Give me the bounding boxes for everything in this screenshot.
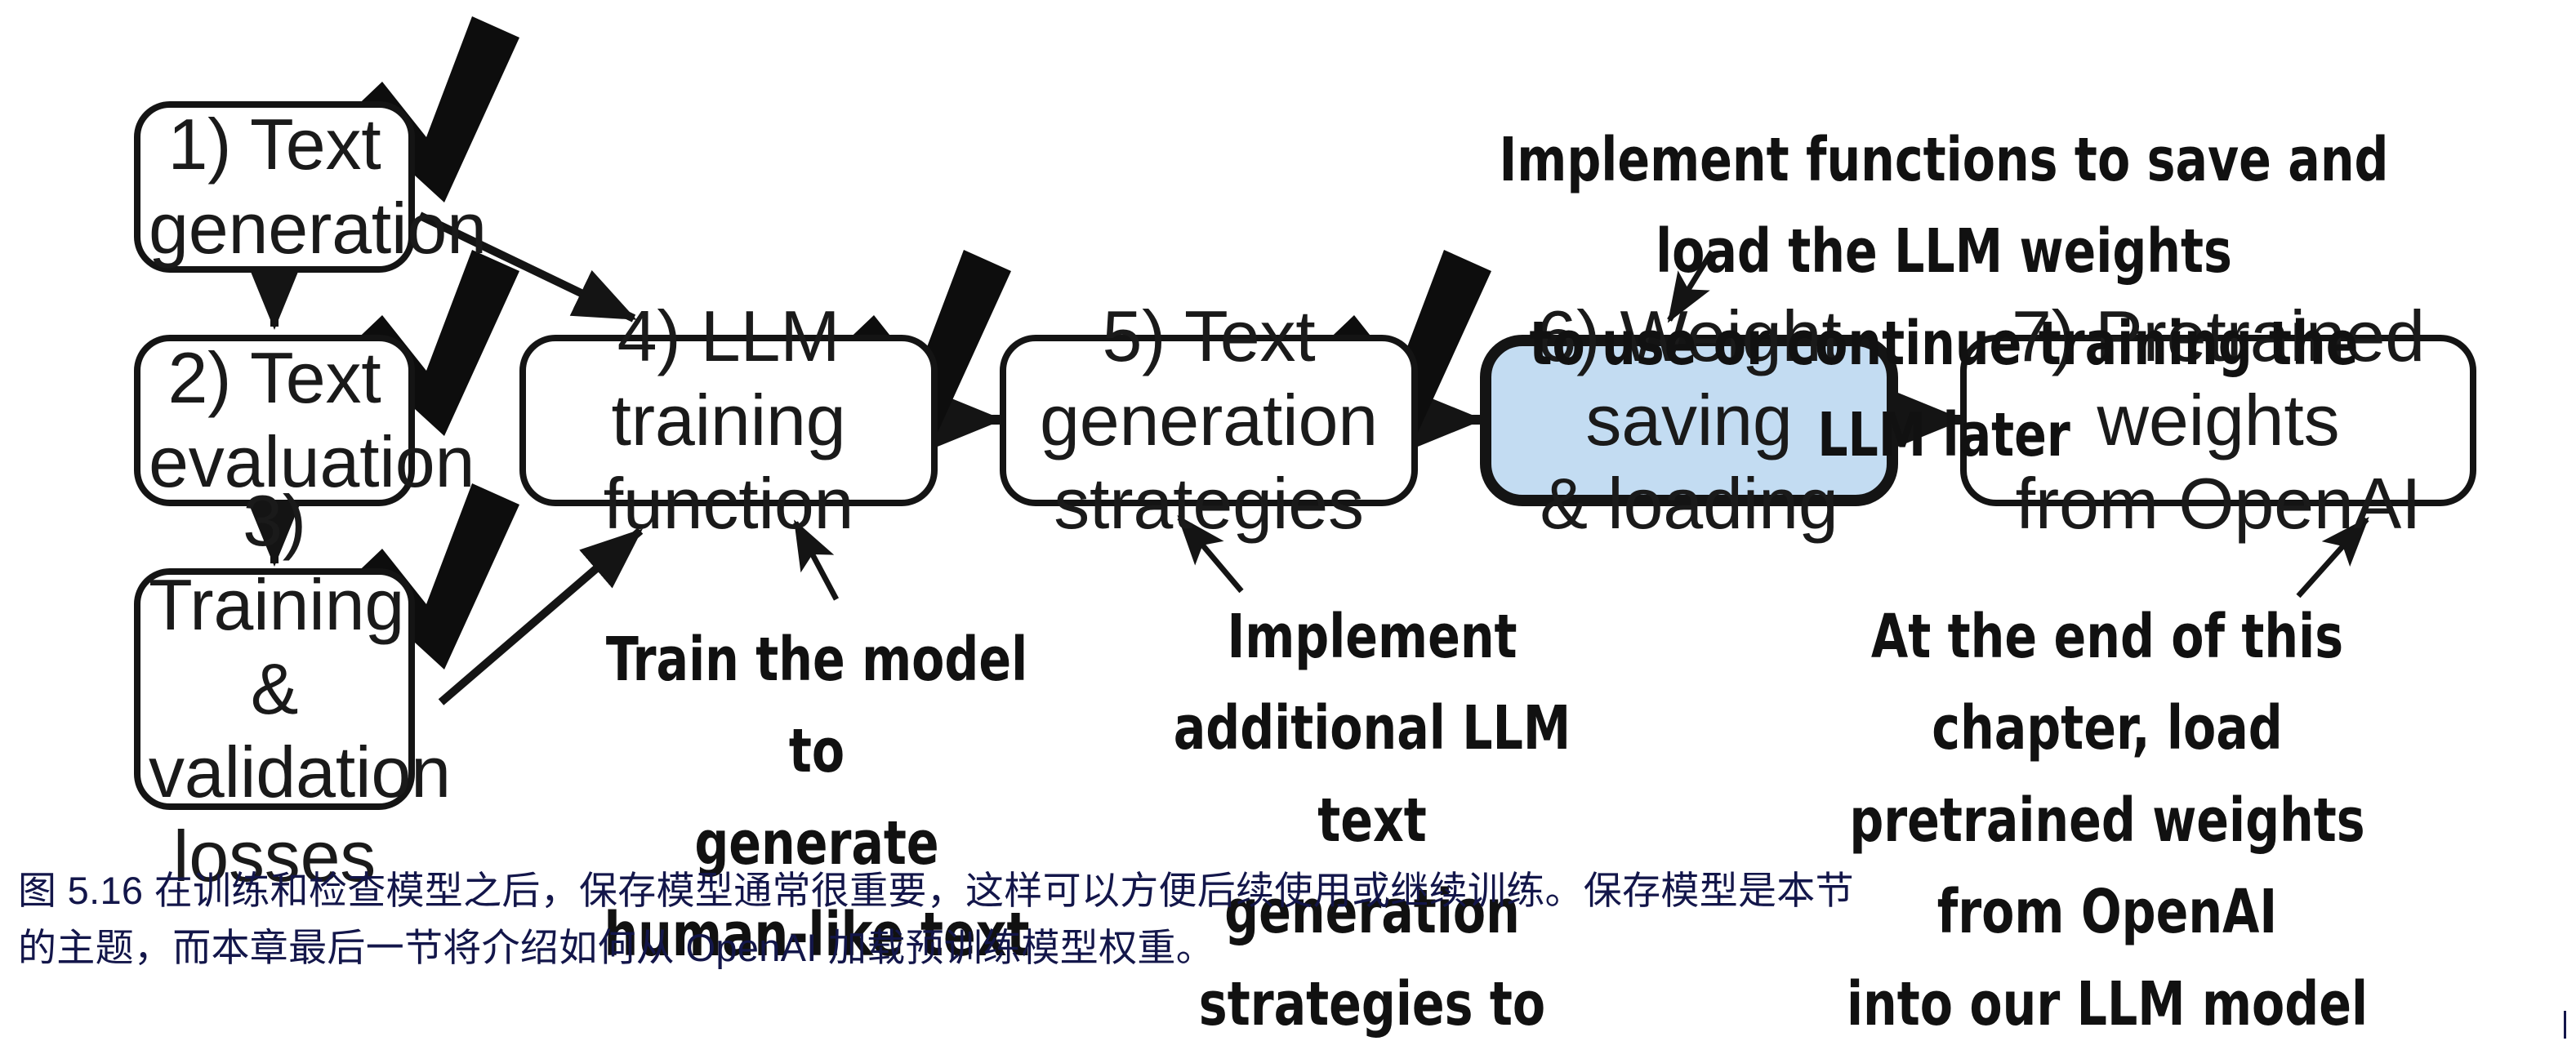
flow-box-step-1-label: 1) Text generation — [149, 103, 400, 271]
flow-box-step-3-label: 3) Training & validation losses — [149, 479, 400, 900]
flow-box-step-3[interactable]: 3) Training & validation losses — [134, 568, 415, 810]
flow-box-step-4[interactable]: 4) LLM training function — [519, 335, 938, 506]
flow-box-step-5[interactable]: 5) Text generation strategies — [1000, 335, 1418, 506]
flow-box-step-5-label: 5) Text generation strategies — [1014, 295, 1403, 547]
annotation-weight-saving: Implement functions to save and load the… — [1469, 114, 2418, 482]
annotation-strategies: Implement additional LLM text generation… — [1113, 591, 1631, 1050]
flow-box-step-4-label: 4) LLM training function — [534, 295, 923, 547]
annotation-openai: At the end of this chapter, load pretrai… — [1834, 591, 2381, 1050]
page-edge-marker — [2564, 1011, 2566, 1039]
figure-caption: 图 5.16 在训练和检查模型之后，保存模型通常很重要，这样可以方便后续使用或继… — [18, 862, 2558, 976]
flow-box-step-1[interactable]: 1) Text generation — [134, 101, 415, 273]
figure-root: 1) Text generation 2) Text evaluation 3)… — [0, 0, 2576, 1050]
